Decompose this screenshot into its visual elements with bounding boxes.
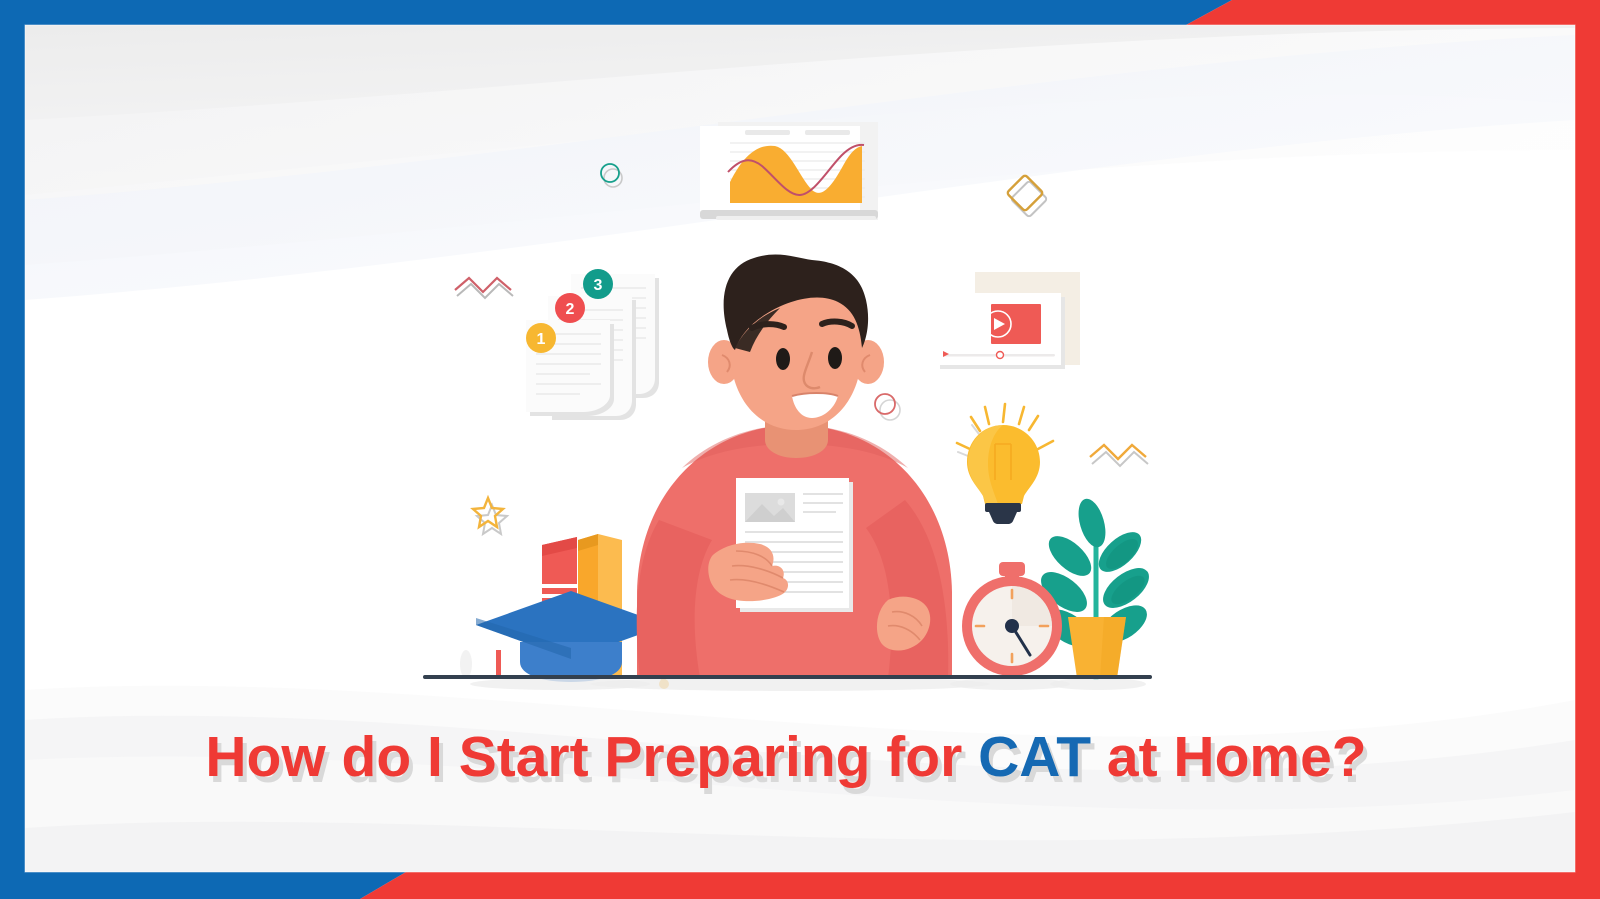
- decorative-frame: [0, 0, 1600, 899]
- frame-bottom-blue: [0, 872, 406, 899]
- frame-top-blue: [0, 0, 1232, 25]
- frame-top-red: [1186, 0, 1600, 25]
- frame-right: [1575, 0, 1600, 899]
- frame-bottom-red: [360, 872, 1600, 899]
- banner-root: 3 2 1: [0, 0, 1600, 899]
- frame-left: [0, 0, 25, 899]
